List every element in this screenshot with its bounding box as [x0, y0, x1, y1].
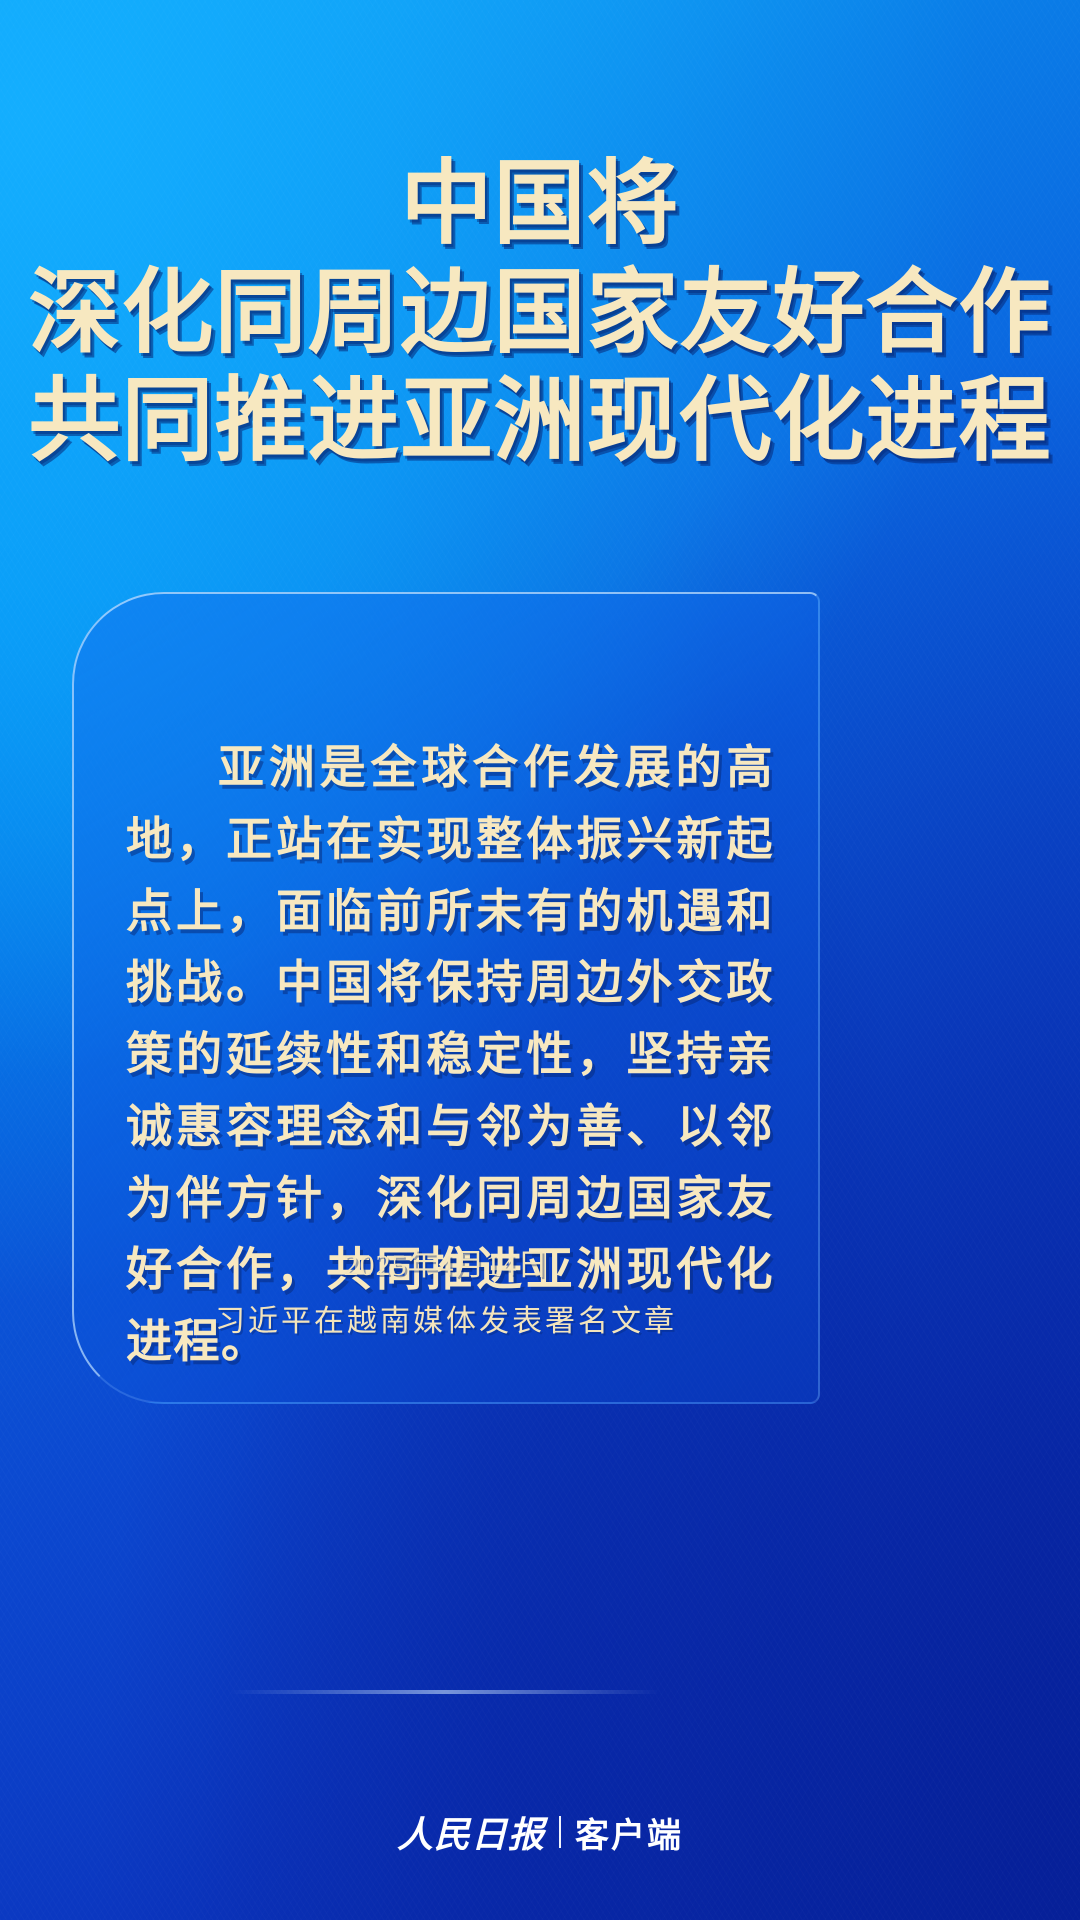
quote-card: 亚洲是全球合作发展的高地，正站在实现整体振兴新起点上，面临前所未有的机遇和挑战。…: [72, 592, 820, 1404]
quote-attribution: 2025年4月14日 习近平在越南媒体发表署名文章: [74, 1240, 818, 1340]
brand-footer: 人民日报 客户端: [0, 1806, 1080, 1858]
brand-logo-name: 人民日报: [397, 1806, 545, 1858]
publish-date: 2025年4月14日: [74, 1240, 818, 1284]
card-highlight-line: [230, 1690, 660, 1694]
title-line-3: 共同推进亚洲现代化进程: [0, 367, 1080, 476]
title-line-2: 深化同周边国家友好合作: [0, 259, 1080, 368]
brand-app-label: 客户端: [575, 1808, 683, 1857]
brand-divider-icon: [559, 1816, 561, 1848]
poster-root: 中国将 深化同周边国家友好合作 共同推进亚洲现代化进程 亚洲是全球合作发展的高地…: [0, 0, 1080, 1920]
poster-title: 中国将 深化同周边国家友好合作 共同推进亚洲现代化进程: [0, 150, 1080, 476]
title-line-1: 中国将: [0, 150, 1080, 259]
publish-source: 习近平在越南媒体发表署名文章: [74, 1296, 818, 1340]
